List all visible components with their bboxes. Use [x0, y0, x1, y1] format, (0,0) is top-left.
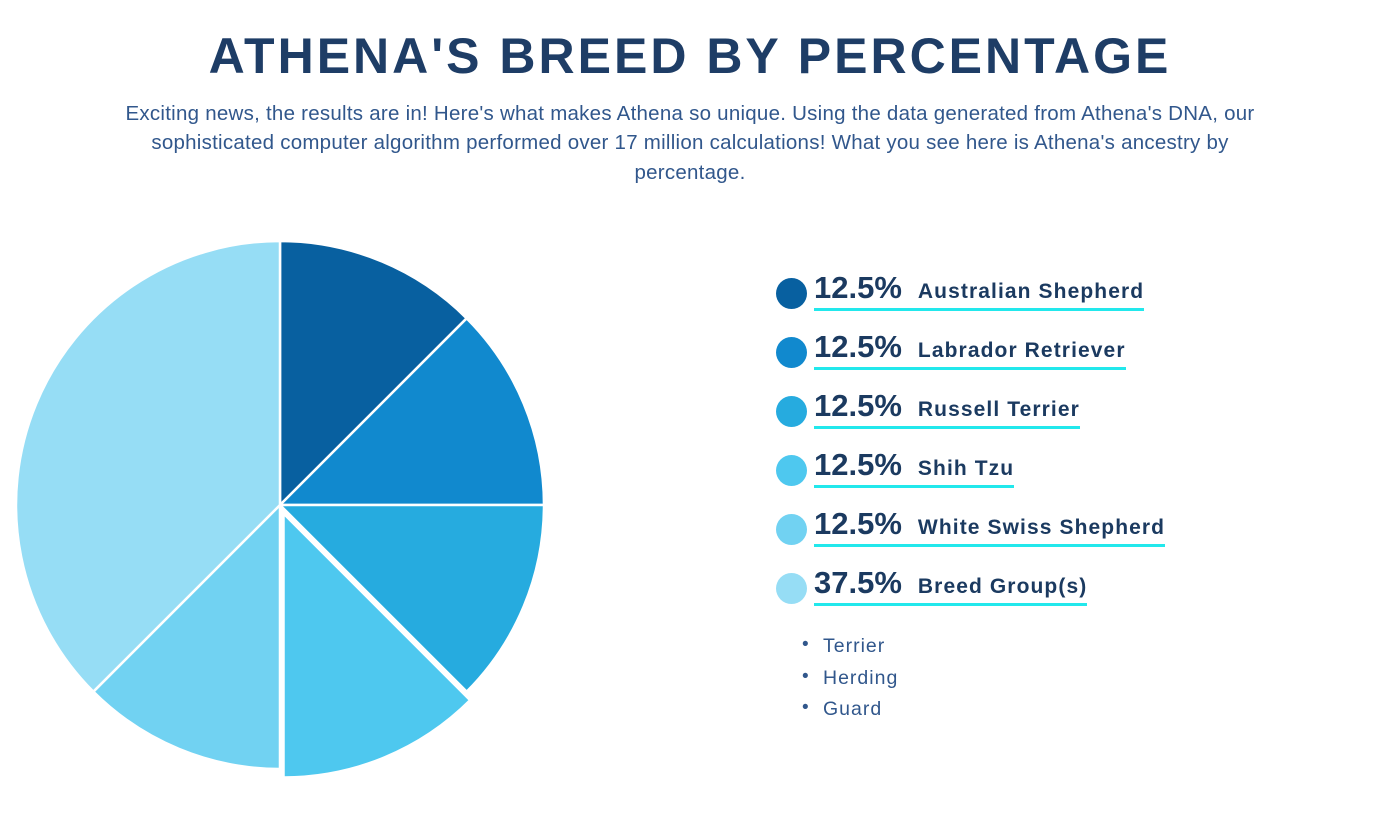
legend-item-russell-terrier[interactable]: 12.5% Russell Terrier	[776, 390, 1336, 449]
legend-color-dot	[776, 514, 807, 545]
infographic-page: ATHENA'S BREED BY PERCENTAGE Exciting ne…	[0, 0, 1380, 831]
subtitle-text: Exciting news, the results are in! Here'…	[100, 99, 1280, 188]
legend-label: Shih Tzu	[918, 458, 1014, 479]
legend-percent: 12.5%	[814, 272, 902, 303]
legend: 12.5% Australian Shepherd 12.5% Labrador…	[776, 272, 1336, 726]
legend-color-dot	[776, 278, 807, 309]
legend-color-dot	[776, 396, 807, 427]
legend-percent: 37.5%	[814, 567, 902, 598]
legend-label: Australian Shepherd	[918, 281, 1144, 302]
legend-text-group: 12.5% Russell Terrier	[814, 390, 1080, 429]
legend-text-group: 12.5% Labrador Retriever	[814, 331, 1126, 370]
legend-label: Labrador Retriever	[918, 340, 1126, 361]
breed-group-item: Herding	[802, 663, 1336, 695]
legend-text-group: 12.5% White Swiss Shepherd	[814, 508, 1165, 547]
legend-color-dot	[776, 337, 807, 368]
legend-item-white-swiss-shepherd[interactable]: 12.5% White Swiss Shepherd	[776, 508, 1336, 567]
chart-and-legend: 12.5% Australian Shepherd 12.5% Labrador…	[0, 200, 1380, 831]
legend-text-group: 12.5% Shih Tzu	[814, 449, 1014, 488]
legend-label: White Swiss Shepherd	[918, 517, 1165, 538]
legend-label: Russell Terrier	[918, 399, 1080, 420]
legend-text-group: 12.5% Australian Shepherd	[814, 272, 1144, 311]
legend-percent: 12.5%	[814, 331, 902, 362]
page-title: ATHENA'S BREED BY PERCENTAGE	[0, 30, 1380, 83]
pie-slices	[16, 241, 544, 778]
pie-chart-svg	[0, 200, 700, 800]
legend-percent: 12.5%	[814, 390, 902, 421]
legend-color-dot	[776, 573, 807, 604]
legend-text-group: 37.5% Breed Group(s)	[814, 567, 1087, 606]
breed-group-item: Guard	[802, 694, 1336, 726]
legend-item-labrador-retriever[interactable]: 12.5% Labrador Retriever	[776, 331, 1336, 390]
legend-percent: 12.5%	[814, 508, 902, 539]
legend-item-shih-tzu[interactable]: 12.5% Shih Tzu	[776, 449, 1336, 508]
header: ATHENA'S BREED BY PERCENTAGE Exciting ne…	[0, 0, 1380, 187]
legend-percent: 12.5%	[814, 449, 902, 480]
legend-item-breed-groups[interactable]: 37.5% Breed Group(s)	[776, 567, 1336, 626]
breed-groups-list: Terrier Herding Guard	[802, 631, 1336, 726]
legend-color-dot	[776, 455, 807, 486]
pie-chart	[0, 200, 700, 800]
breed-group-item: Terrier	[802, 631, 1336, 663]
legend-item-australian-shepherd[interactable]: 12.5% Australian Shepherd	[776, 272, 1336, 331]
legend-label: Breed Group(s)	[918, 576, 1087, 597]
